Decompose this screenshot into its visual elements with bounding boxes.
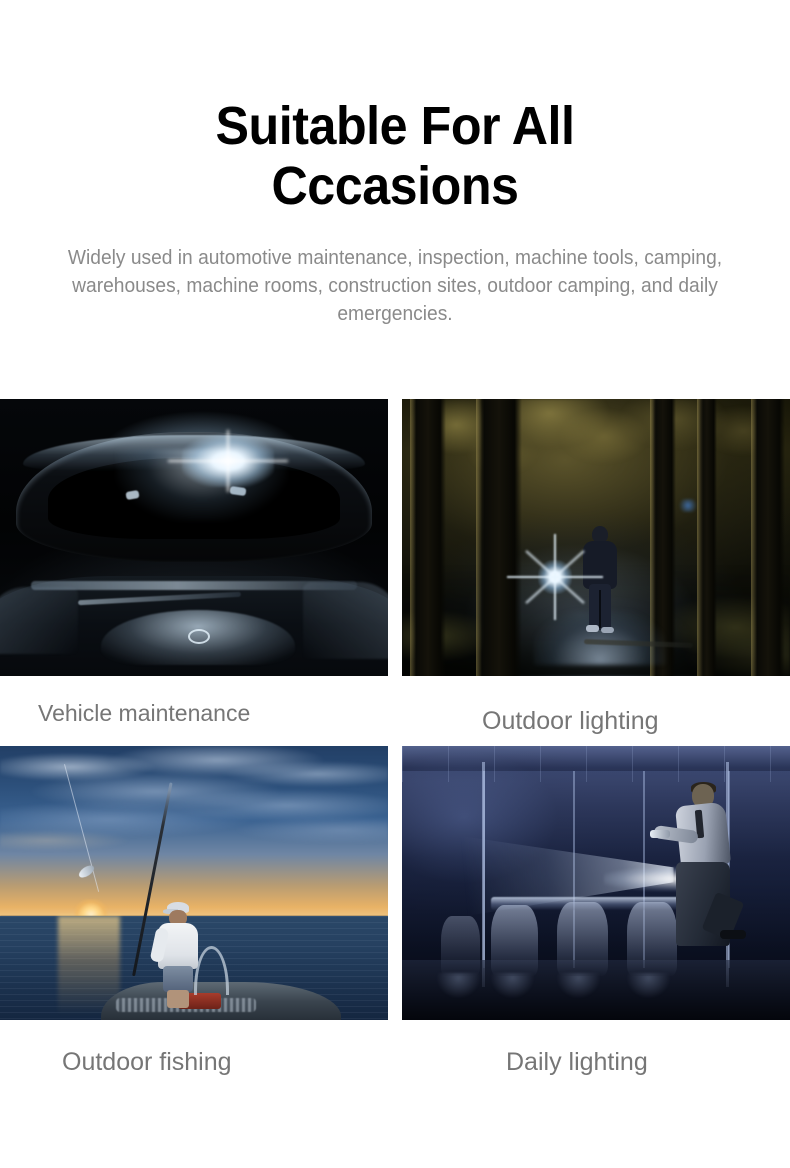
page-header: Suitable For All Cccasions Widely used i…	[0, 0, 790, 328]
gallery-caption: Outdoor fishing	[0, 1020, 388, 1087]
office-worker-figure	[658, 784, 750, 992]
gallery-row-1: Vehicle maintenance	[0, 399, 790, 746]
gallery-caption: Outdoor lighting	[402, 676, 790, 746]
page-title: Suitable For All Cccasions	[28, 96, 763, 216]
vehicle-maintenance-image	[0, 399, 388, 676]
gallery-item-daily-lighting[interactable]: Daily lighting	[395, 746, 790, 1087]
use-case-gallery: Vehicle maintenance	[0, 399, 790, 1087]
flashlight-icon	[650, 830, 670, 838]
gallery-item-outdoor-fishing[interactable]: Outdoor fishing	[0, 746, 395, 1087]
daily-lighting-image	[402, 746, 790, 1020]
page-subtitle: Widely used in automotive maintenance, i…	[16, 244, 774, 328]
angler-figure	[155, 902, 201, 1006]
outdoor-fishing-image	[0, 746, 388, 1020]
gallery-item-outdoor-lighting[interactable]: Outdoor lighting	[395, 399, 790, 746]
flashlight-starburst-icon	[538, 560, 572, 594]
outdoor-lighting-image	[402, 399, 790, 676]
gallery-caption: Daily lighting	[402, 1020, 790, 1087]
hiker-figure	[580, 526, 620, 634]
gallery-item-vehicle-maintenance[interactable]: Vehicle maintenance	[0, 399, 395, 746]
product-feature-page: Suitable For All Cccasions Widely used i…	[0, 0, 790, 1168]
gallery-row-2: Outdoor fishing	[0, 746, 790, 1087]
worklight-glow-icon	[182, 435, 274, 487]
gallery-caption: Vehicle maintenance	[0, 676, 388, 737]
